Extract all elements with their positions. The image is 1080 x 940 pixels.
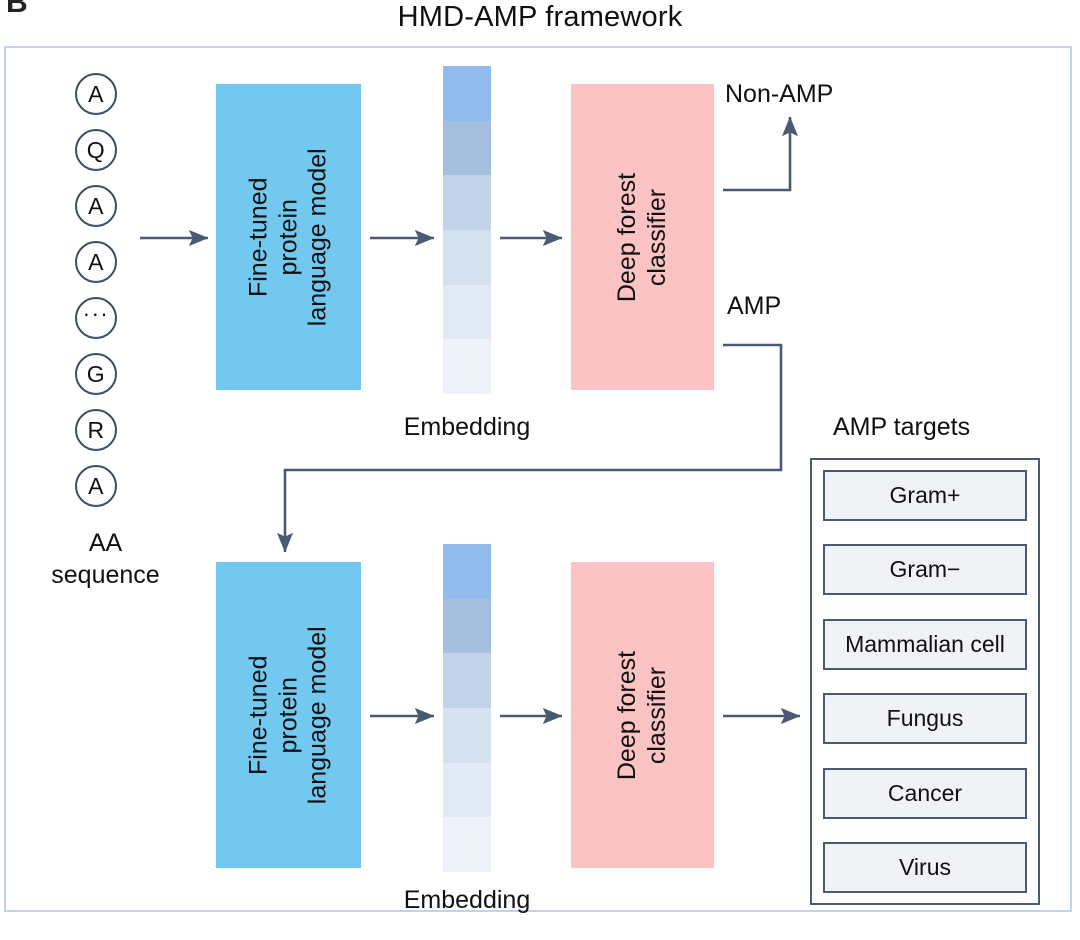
language-model-label-bottom: Fine-tuned protein language model xyxy=(244,626,333,804)
embedding-cell xyxy=(443,653,491,708)
language-model-label-top: Fine-tuned protein language model xyxy=(244,148,333,326)
embedding-caption-bottom: Embedding xyxy=(317,886,617,915)
deep-forest-classifier-box-bottom: Deep forest classifier xyxy=(571,562,714,868)
language-model-box-top: Fine-tuned protein language model xyxy=(216,84,361,390)
classifier-label-top: Deep forest classifier xyxy=(613,172,672,301)
dfc-line2: classifier xyxy=(643,650,673,779)
embedding-cell xyxy=(443,285,491,340)
lm-line2: protein xyxy=(274,626,304,804)
target-item: Fungus xyxy=(823,693,1027,744)
embedding-cell xyxy=(443,599,491,654)
classifier-label-bottom: Deep forest classifier xyxy=(613,650,672,779)
embedding-cell xyxy=(443,175,491,230)
aa-residue: A xyxy=(75,241,117,283)
aa-sequence-caption: AA sequence xyxy=(18,527,193,591)
branch-label-non-amp: Non-AMP xyxy=(725,80,833,109)
embedding-cell xyxy=(443,544,491,599)
aa-residue: A xyxy=(75,73,117,115)
dfc-line1: Deep forest xyxy=(613,172,643,301)
target-item: Gram+ xyxy=(823,470,1027,521)
figure-title: HMD-AMP framework xyxy=(0,1,1080,34)
aa-caption-line1: AA xyxy=(18,527,193,559)
embedding-strip-bottom xyxy=(443,544,491,872)
lm-line2: protein xyxy=(274,148,304,326)
lm-line1: Fine-tuned xyxy=(244,626,274,804)
aa-caption-line2: sequence xyxy=(18,559,193,591)
aa-residue: A xyxy=(75,465,117,507)
aa-residue-ellipsis: ··· xyxy=(75,297,117,339)
lm-line1: Fine-tuned xyxy=(244,148,274,326)
dfc-line1: Deep forest xyxy=(613,650,643,779)
embedding-cell xyxy=(443,339,491,394)
figure-canvas: B HMD-AMP framework A Q A A ··· G R A AA… xyxy=(0,0,1080,940)
embedding-cell xyxy=(443,708,491,763)
aa-residue: R xyxy=(75,409,117,451)
embedding-cell xyxy=(443,121,491,176)
embedding-strip-top xyxy=(443,66,491,394)
aa-residue: Q xyxy=(75,129,117,171)
amp-targets-group: Gram+ Gram− Mammalian cell Fungus Cancer… xyxy=(810,458,1040,905)
branch-label-amp: AMP xyxy=(727,292,781,321)
embedding-cell xyxy=(443,763,491,818)
target-item: Gram− xyxy=(823,544,1027,595)
aa-residue: A xyxy=(75,185,117,227)
target-item: Virus xyxy=(823,842,1027,893)
amp-targets-heading: AMP targets xyxy=(833,413,970,442)
lm-line3: language model xyxy=(303,626,333,804)
aa-residue: G xyxy=(75,353,117,395)
language-model-box-bottom: Fine-tuned protein language model xyxy=(216,562,361,868)
embedding-cell xyxy=(443,66,491,121)
target-item: Cancer xyxy=(823,768,1027,819)
embedding-cell xyxy=(443,817,491,872)
deep-forest-classifier-box-top: Deep forest classifier xyxy=(571,84,714,390)
target-item: Mammalian cell xyxy=(823,619,1027,670)
aa-sequence-column: A Q A A ··· G R A xyxy=(75,73,135,521)
lm-line3: language model xyxy=(303,148,333,326)
dfc-line2: classifier xyxy=(643,172,673,301)
embedding-cell xyxy=(443,230,491,285)
embedding-caption-top: Embedding xyxy=(317,413,617,442)
